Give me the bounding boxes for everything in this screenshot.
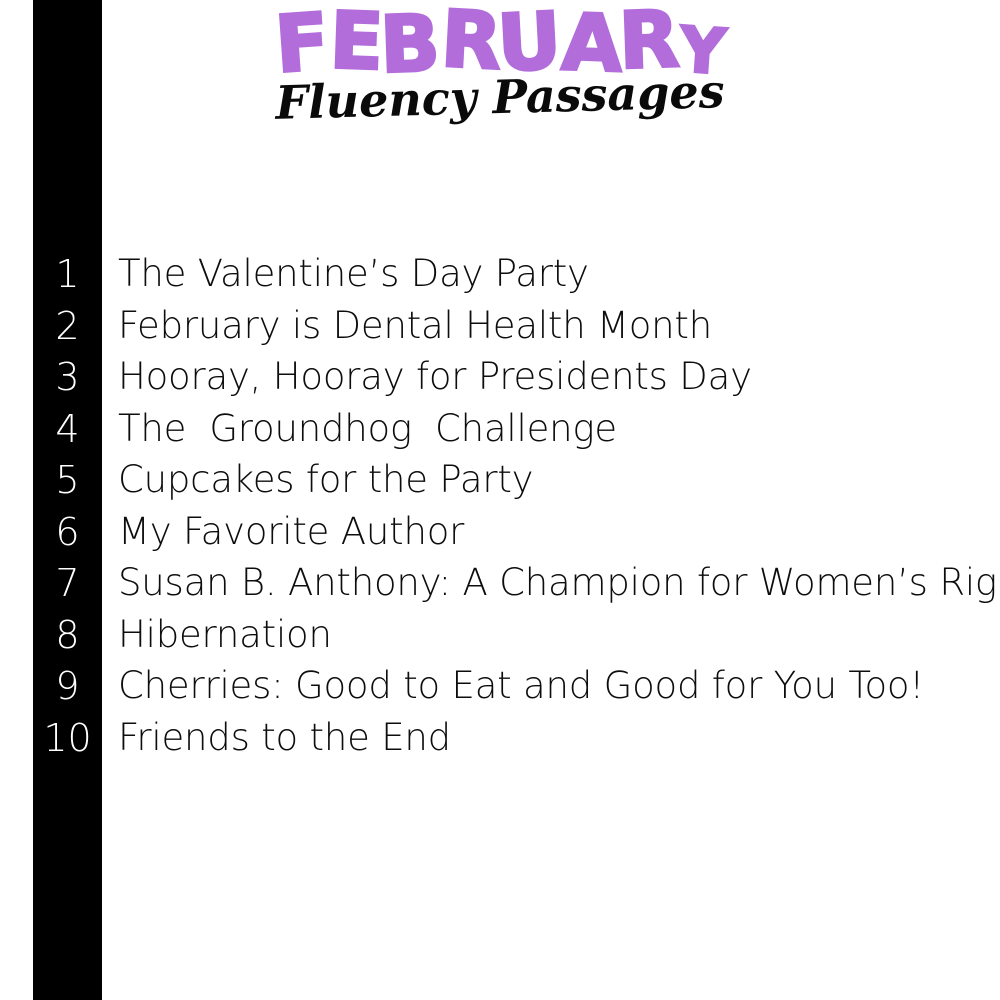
list-item-title: My Favorite Author [118,507,464,559]
list-item-title: Hooray, Hooray for Presidents Day [118,352,752,404]
list-item-number: 3 [33,352,102,404]
list-item-number: 8 [33,610,102,662]
passage-list: 1 The Valentine’s Day Party 2 February i… [0,249,1000,764]
list-item[interactable]: 7 Susan B. Anthony: A Champion for Women… [0,558,1000,610]
list-item[interactable]: 3 Hooray, Hooray for Presidents Day [0,352,1000,404]
page-header: FEBRUARY Fluency Passages [0,0,1000,150]
list-item-number: 9 [33,661,102,713]
title-letter: E [328,2,383,82]
list-item[interactable]: 5 Cupcakes for the Party [0,455,1000,507]
list-item-title: The Groundhog Challenge [118,404,617,456]
list-item-title: Cupcakes for the Party [118,455,533,507]
list-item-number: 7 [33,558,102,610]
list-item-title: Friends to the End [118,713,451,765]
list-item[interactable]: 9 Cherries: Good to Eat and Good for You… [0,661,1000,713]
list-item-number: 2 [33,301,102,353]
list-item-title: Susan B. Anthony: A Champion for Women’s… [118,558,1000,610]
list-item-title: Hibernation [118,610,332,662]
list-item[interactable]: 8 Hibernation [0,610,1000,662]
list-item[interactable]: 6 My Favorite Author [0,507,1000,559]
list-item-number: 4 [33,404,102,456]
list-item-number: 6 [33,507,102,559]
title-letter: F [272,3,330,84]
list-item[interactable]: 4 The Groundhog Challenge [0,404,1000,456]
page-root: FEBRUARY Fluency Passages 1 The Valentin… [0,0,1000,1000]
list-item[interactable]: 10 Friends to the End [0,713,1000,765]
list-item-title: The Valentine’s Day Party [118,249,589,301]
list-item-number: 10 [33,713,102,765]
list-item[interactable]: 1 The Valentine’s Day Party [0,249,1000,301]
list-item-number: 1 [33,249,102,301]
list-item[interactable]: 2 February is Dental Health Month [0,301,1000,353]
list-item-title: February is Dental Health Month [118,301,712,353]
list-item-title: Cherries: Good to Eat and Good for You T… [118,661,924,713]
list-item-number: 5 [33,455,102,507]
